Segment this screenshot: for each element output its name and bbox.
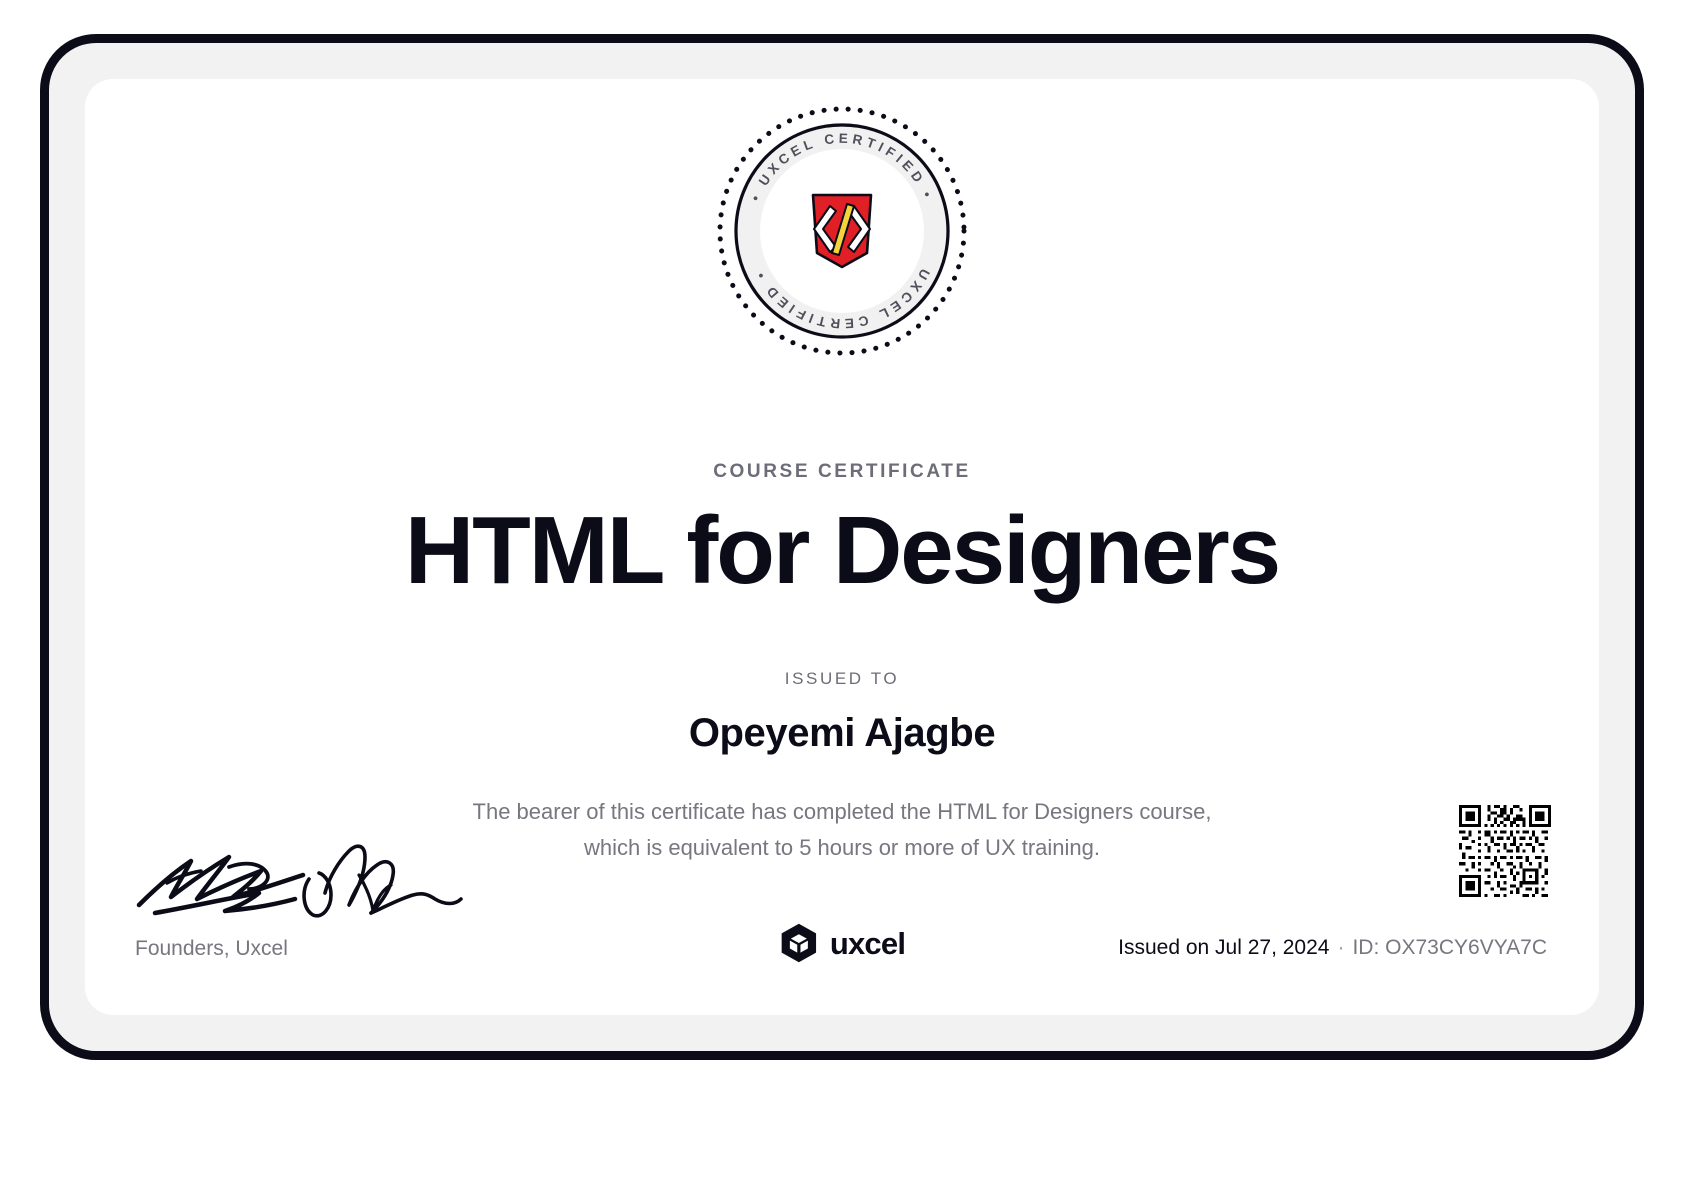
- certificate-id: ID: OX73CY6VYA7C: [1352, 936, 1547, 959]
- qr-code-icon[interactable]: [1459, 805, 1551, 897]
- uxcel-brand-logo: uxcel: [779, 923, 905, 963]
- recipient-name: Opeyemi Ajagbe: [85, 711, 1599, 756]
- certificate-frame: • UXCEL CERTIFIED • UXCEL CERTIFIED • CO…: [40, 34, 1644, 1060]
- uxcel-cube-logo-icon: [779, 923, 819, 963]
- code-shield-icon: [813, 195, 871, 267]
- certification-badge: • UXCEL CERTIFIED • UXCEL CERTIFIED •: [712, 101, 972, 361]
- page-title: HTML for Designers: [85, 500, 1599, 602]
- issued-on-date: Issued on Jul 27, 2024: [1118, 936, 1329, 959]
- description-line-2: which is equivalent to 5 hours or more o…: [584, 835, 1100, 860]
- certificate-card: • UXCEL CERTIFIED • UXCEL CERTIFIED • CO…: [85, 79, 1599, 1015]
- issue-metadata: Issued on Jul 27, 2024·ID: OX73CY6VYA7C: [1118, 936, 1547, 960]
- description-line-1: The bearer of this certificate has compl…: [473, 799, 1212, 824]
- meta-separator: ·: [1329, 936, 1352, 959]
- issued-to-label: ISSUED TO: [85, 669, 1599, 689]
- uxcel-wordmark: uxcel: [830, 928, 905, 959]
- certificate-description: The bearer of this certificate has compl…: [392, 794, 1292, 865]
- signatures-image: [133, 827, 463, 919]
- certificate-type-eyebrow: COURSE CERTIFICATE: [85, 461, 1599, 483]
- founders-label: Founders, Uxcel: [135, 937, 288, 961]
